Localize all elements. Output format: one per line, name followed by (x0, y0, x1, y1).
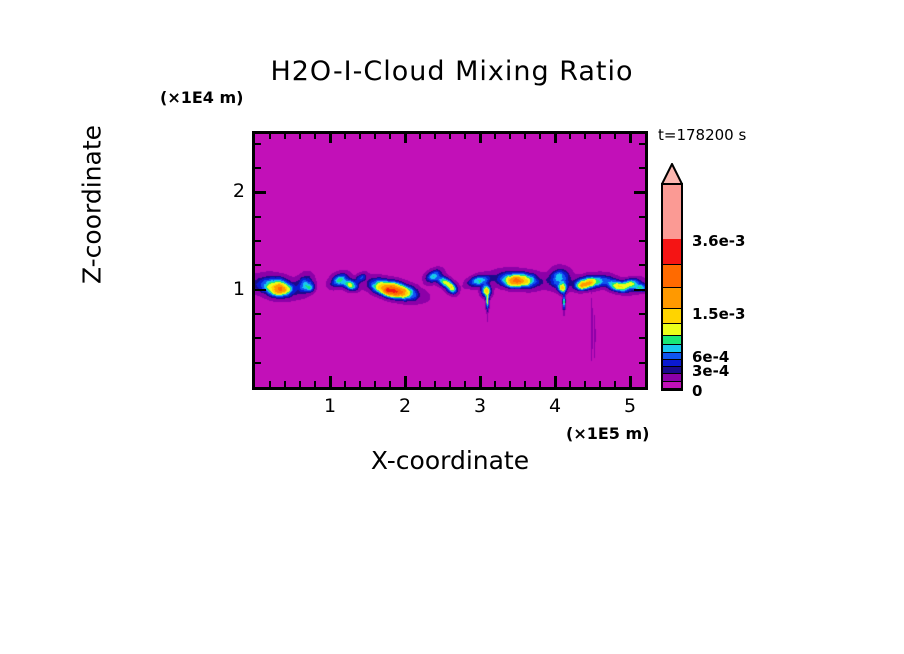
x-tick-major-top (629, 134, 632, 143)
y-tick-minor (255, 313, 261, 315)
page-title: H2O-I-Cloud Mixing Ratio (0, 56, 904, 87)
x-tick-minor-top (584, 134, 586, 139)
x-tick-major (404, 376, 407, 387)
y-tick-minor-right (639, 337, 645, 339)
x-tick-minor-top (284, 134, 286, 139)
x-tick-minor (374, 381, 376, 387)
colorbar-tick-label: 3e-4 (692, 362, 729, 380)
colorbar-band (663, 265, 681, 288)
colorbar-tick-label: 1.5e-3 (692, 305, 745, 323)
colorbar-tick-label: 3.6e-3 (692, 232, 745, 250)
x-tick-minor-top (539, 134, 541, 139)
y-tick-label: 1 (217, 278, 245, 300)
y-tick-minor (255, 337, 261, 339)
x-tick-minor-top (449, 134, 451, 139)
x-tick-minor-top (374, 134, 376, 139)
y-tick-minor-right (639, 362, 645, 364)
x-tick-label: 1 (308, 395, 352, 417)
x-tick-label: 3 (458, 395, 502, 417)
x-tick-major (629, 376, 632, 387)
x-tick-minor (464, 381, 466, 387)
y-tick-minor-right (639, 167, 645, 169)
x-tick-minor (314, 381, 316, 387)
colorbar-band (663, 374, 681, 381)
colorbar-band (663, 367, 681, 374)
y-tick-minor (255, 167, 261, 169)
x-axis-title: X-coordinate (252, 446, 648, 475)
x-tick-minor (524, 381, 526, 387)
x-tick-minor-top (389, 134, 391, 139)
colorbar-band (663, 324, 681, 336)
y-tick-major-right (634, 289, 645, 292)
x-tick-minor (584, 381, 586, 387)
x-tick-minor-top (314, 134, 316, 139)
colorbar-band (663, 336, 681, 345)
figure-canvas: H2O-I-Cloud Mixing Ratio (×1E4 m) t=1782… (0, 0, 904, 654)
x-tick-minor (449, 381, 451, 387)
colorbar-band (663, 353, 681, 360)
y-axis-units-label: (×1E4 m) (160, 88, 243, 107)
x-tick-minor-top (524, 134, 526, 139)
x-tick-major (479, 376, 482, 387)
y-tick-label: 2 (217, 180, 245, 202)
colorbar-band (663, 239, 681, 265)
y-tick-major (255, 191, 266, 194)
x-tick-minor-top (419, 134, 421, 139)
x-tick-major-top (404, 134, 407, 143)
x-tick-minor (269, 381, 271, 387)
x-tick-minor (419, 381, 421, 387)
x-tick-minor-top (494, 134, 496, 139)
x-tick-minor-top (344, 134, 346, 139)
colorbar-extend-arrow-icon (661, 163, 683, 185)
x-tick-minor (494, 381, 496, 387)
colorbar-band (663, 309, 681, 324)
plot-area (252, 131, 648, 390)
y-tick-major (255, 289, 266, 292)
x-tick-minor (434, 381, 436, 387)
x-tick-major (554, 376, 557, 387)
x-tick-label: 2 (383, 395, 427, 417)
x-tick-major-top (479, 134, 482, 143)
colorbar-band (663, 185, 681, 239)
x-tick-minor (509, 381, 511, 387)
colorbar (661, 183, 683, 391)
x-tick-minor (344, 381, 346, 387)
x-tick-major (329, 376, 332, 387)
x-tick-label: 4 (533, 395, 577, 417)
x-axis-units-label: (×1E5 m) (566, 424, 649, 443)
x-tick-minor (284, 381, 286, 387)
x-tick-minor (299, 381, 301, 387)
colorbar-band (663, 288, 681, 309)
y-tick-minor (255, 362, 261, 364)
x-tick-major-top (554, 134, 557, 143)
y-tick-minor (255, 264, 261, 266)
x-tick-minor (539, 381, 541, 387)
x-tick-minor (569, 381, 571, 387)
colorbar-band (663, 360, 681, 367)
x-tick-minor (599, 381, 601, 387)
colorbar-band (663, 382, 681, 389)
y-tick-minor-right (639, 313, 645, 315)
colorbar-tick-label: 0 (692, 382, 702, 400)
x-tick-minor-top (599, 134, 601, 139)
y-tick-minor (255, 143, 261, 145)
x-tick-label: 5 (608, 395, 652, 417)
y-tick-minor (255, 216, 261, 218)
y-tick-minor-right (639, 264, 645, 266)
y-tick-major-right (634, 191, 645, 194)
x-tick-minor-top (299, 134, 301, 139)
x-tick-minor-top (569, 134, 571, 139)
contour-field (255, 134, 645, 387)
colorbar-band (663, 345, 681, 352)
y-tick-minor (255, 240, 261, 242)
x-tick-major-top (329, 134, 332, 143)
x-tick-minor-top (614, 134, 616, 139)
x-tick-minor-top (359, 134, 361, 139)
x-tick-minor-top (464, 134, 466, 139)
x-tick-minor (614, 381, 616, 387)
time-annotation: t=178200 s (658, 126, 746, 144)
x-tick-minor-top (509, 134, 511, 139)
x-tick-minor-top (269, 134, 271, 139)
y-tick-minor-right (639, 216, 645, 218)
y-tick-minor-right (639, 240, 645, 242)
y-tick-minor-right (639, 143, 645, 145)
x-tick-minor (389, 381, 391, 387)
x-tick-minor-top (434, 134, 436, 139)
x-tick-minor (359, 381, 361, 387)
y-axis-title: Z-coordinate (78, 105, 107, 305)
